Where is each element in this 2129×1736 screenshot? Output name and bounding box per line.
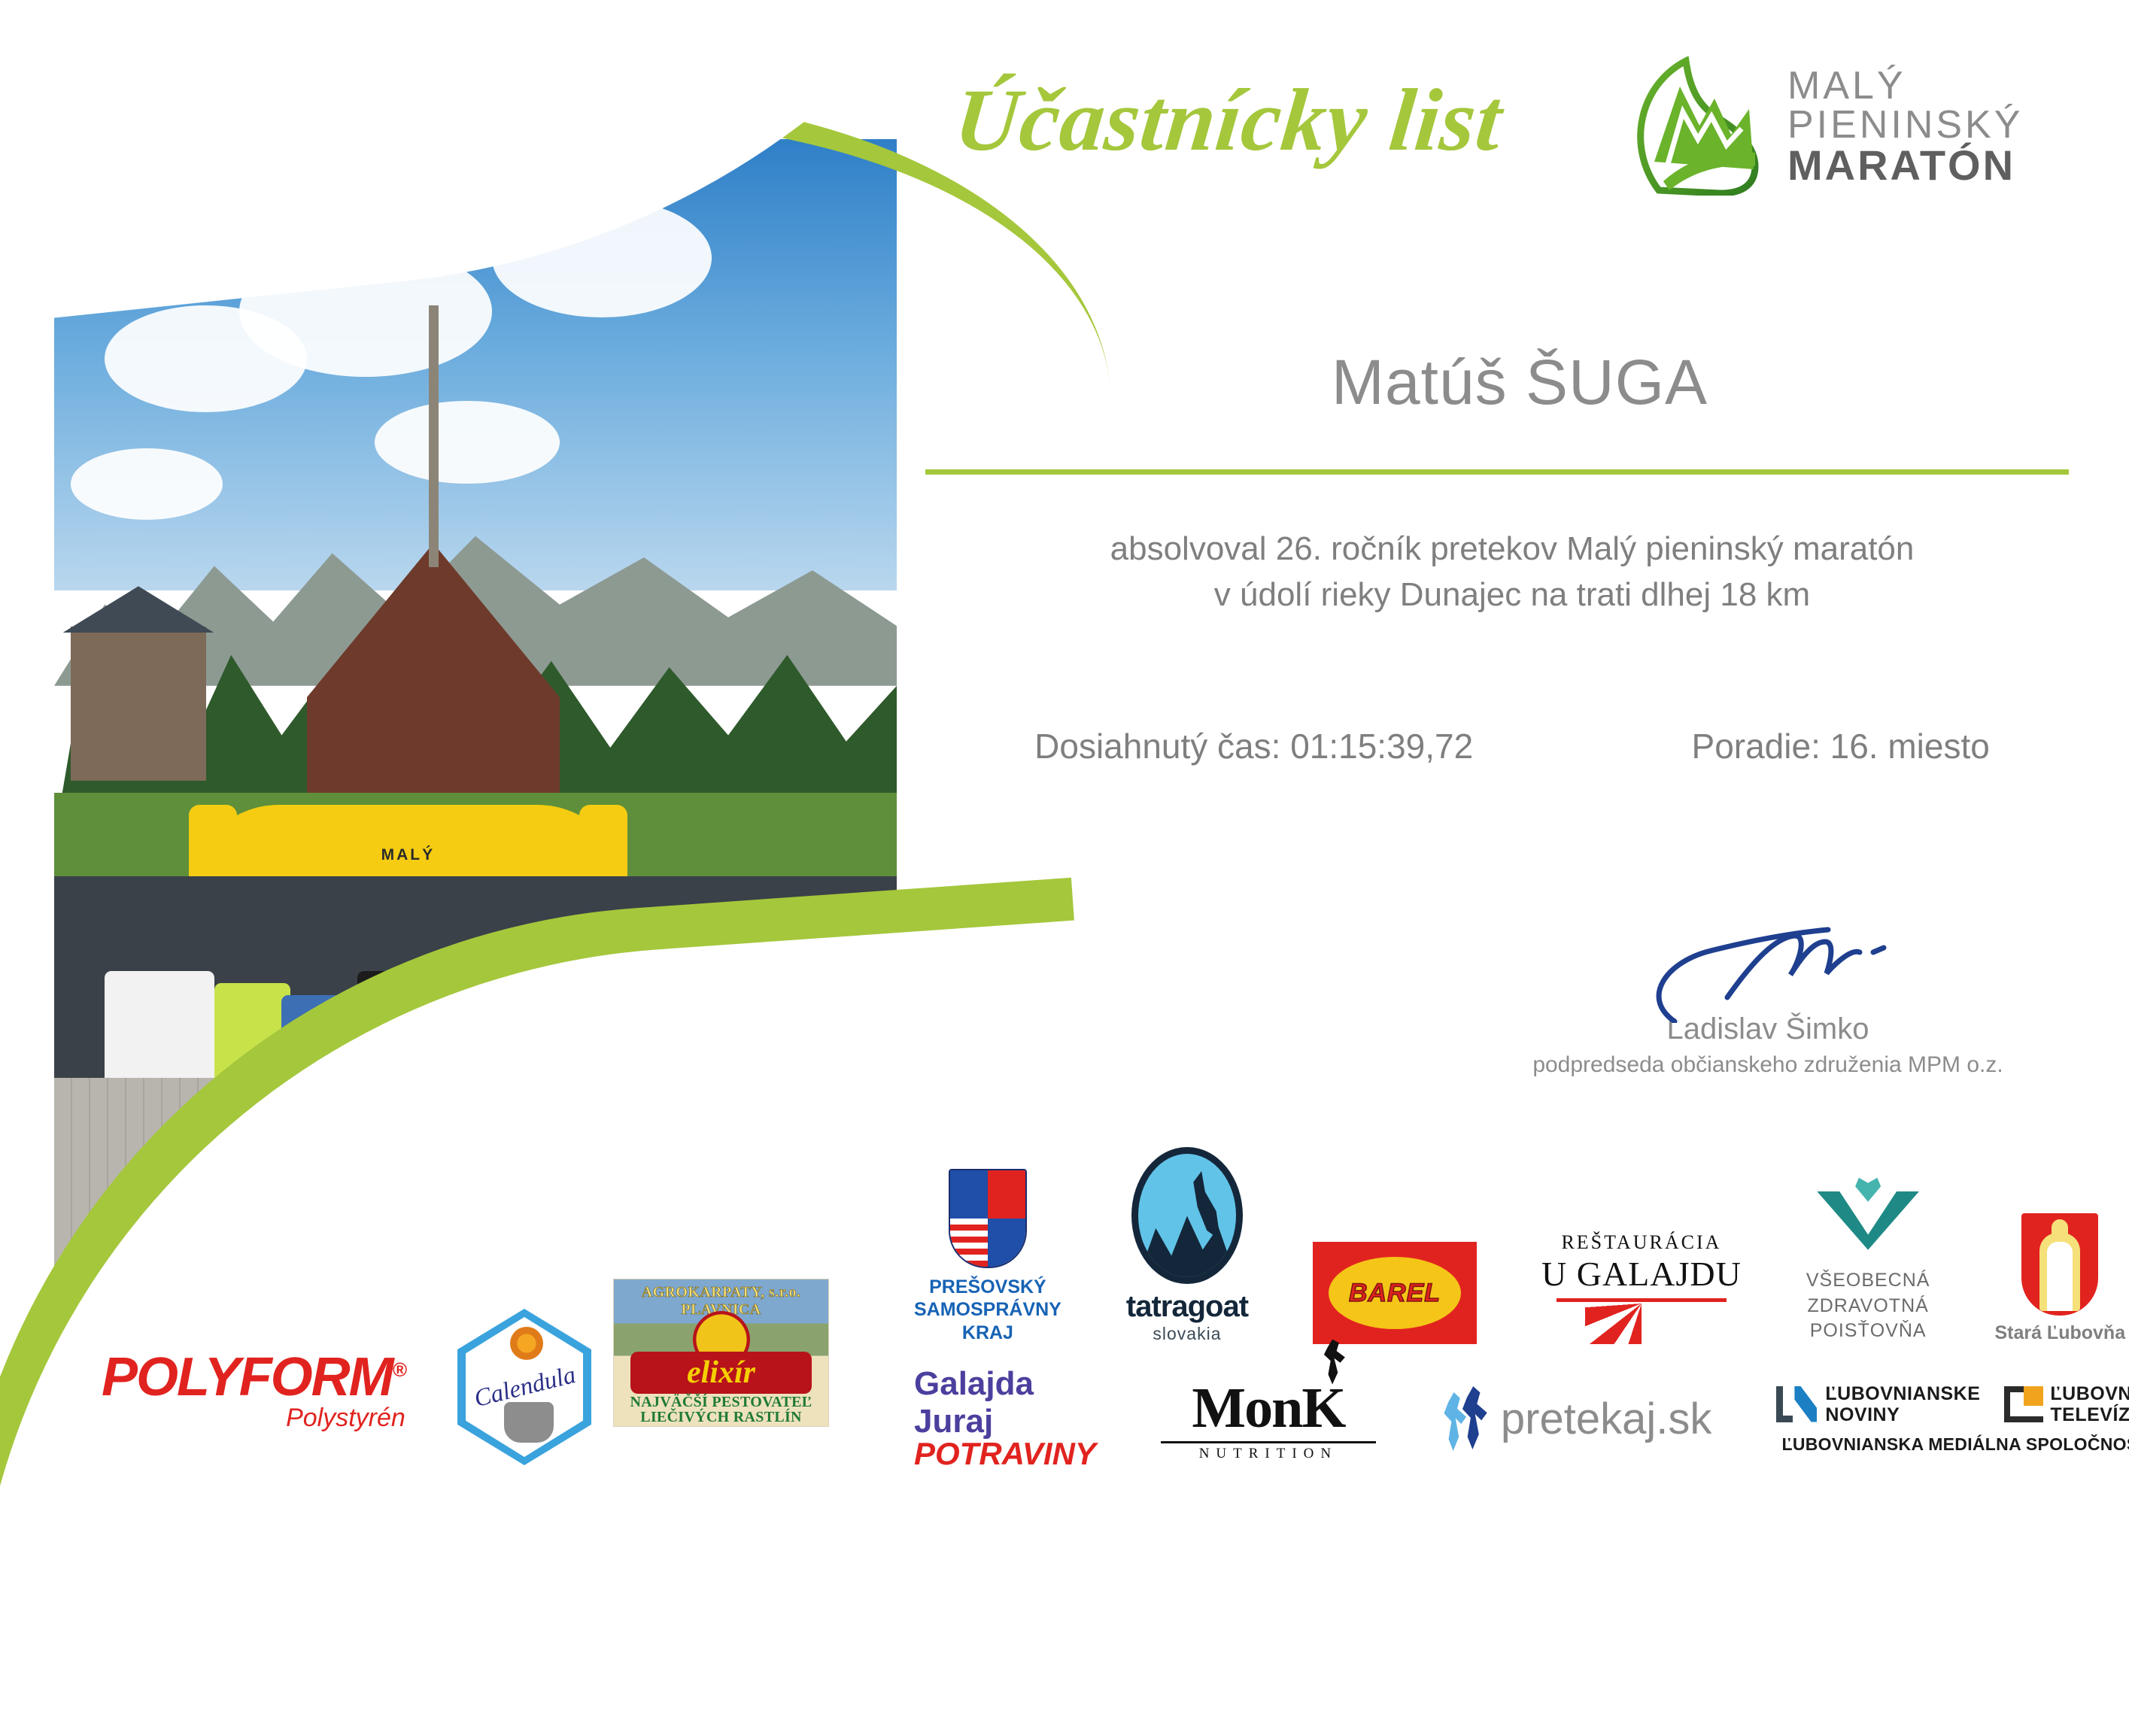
lubovnianska-televizia: ĽUBOVNIANSKA TELEVÍZIA [2004,1383,2129,1425]
results-row: Dosiahnutý čas: 01:15:39,72 Poradie: 16.… [925,726,2099,766]
sponsor-polyform: POLYFORM® Polystyrén [102,1346,405,1433]
lt-monogram-icon [2004,1386,2043,1422]
certificate-description: absolvoval 26. ročník pretekov Malý pien… [925,527,2099,618]
mpm-line2: PIENINSKÝ [1787,105,2023,144]
sponsor-row-secondary: Galajda Juraj POTRAVINY MonK NUTRITION p… [914,1365,2129,1472]
u-galajdu-top: REŠTAURÁCIA [1561,1231,1721,1254]
pretekaj-label: pretekaj.sk [1501,1394,1711,1444]
polyform-name: POLYFORM® [102,1346,405,1408]
mpm-logo: MALÝ PIENINSKÝ MARATÓN [1636,56,2023,196]
sponsor-barel: BAREL [1313,1242,1477,1344]
mpm-line3: MARATÓN [1787,144,2023,187]
arch-line1: MALÝ [189,846,627,864]
elixir-label: elixír [687,1355,755,1391]
runners-icon [1441,1386,1493,1451]
green-divider [925,469,2069,475]
monk-name: MonK [1192,1376,1344,1441]
description-line-2: v údolí rieky Dunajec na trati dlhej 18 … [925,572,2099,618]
elixir-ribbon: elixír [630,1352,812,1394]
u-galajdu-name: U GALAJDU [1541,1254,1742,1294]
finish-time: Dosiahnutý čas: 01:15:39,72 [1034,726,1473,766]
lt-label: ĽUBOVNIANSKA TELEVÍZIA [2050,1383,2129,1425]
monk-sub: NUTRITION [1199,1446,1338,1462]
calendula-flower-icon [510,1327,543,1360]
page-title: Účastnícky list [950,69,1508,171]
sponsor-lubovnianska-medialna: ĽUBOVNIANSKE NOVINY ĽUBOVNIANSKA TELEVÍZ… [1776,1383,2129,1455]
sponsor-row-primary: PREŠOVSKÝ SAMOSPRÁVNY KRAJ tatragoat slo… [914,1147,2125,1344]
ln-monogram-icon [1776,1386,1818,1422]
sponsor-stara-lubovna: Stará Ľubovňa [1994,1213,2125,1344]
barel-label: BAREL [1349,1279,1441,1308]
ln-label: ĽUBOVNIANSKE NOVINY [1825,1383,1980,1425]
mpm-leaf-mountain-icon [1636,56,1768,196]
galajda-name: Galajda Juraj [914,1365,1096,1440]
handwritten-signature-icon [1527,925,2009,1023]
signatory-role: podpredseda občianskeho združenia MPM o.… [1527,1052,2009,1078]
sponsor-tatragoat: tatragoat slovakia [1126,1147,1248,1344]
sponsor-monk-nutrition: MonK NUTRITION [1161,1376,1376,1462]
folk-ornament-icon [1585,1304,1698,1344]
participant-name: Matúš ŠUGA [955,346,2084,419]
tatragoat-badge-icon [1131,1147,1243,1284]
stara-lubovna-shield-icon [2021,1213,2098,1316]
vszp-heart-v-icon [1817,1178,1919,1261]
sponsor-vszp: VŠEOBECNÁ ZDRAVOTNÁ POISŤOVŇA [1806,1178,1930,1344]
stara-lubovna-label: Stará Ľubovňa [1994,1322,2125,1344]
presovsky-kraj-shield-icon [949,1169,1027,1268]
tatragoat-sub: slovakia [1153,1324,1221,1344]
mpm-line1: MALÝ [1787,66,2023,105]
lubovnianske-noviny: ĽUBOVNIANSKE NOVINY [1776,1383,1980,1425]
sponsor-pretekaj-sk: pretekaj.sk [1441,1386,1711,1451]
sponsor-galajda-juraj: Galajda Juraj POTRAVINY [914,1365,1096,1472]
sponsor-presovsky-kraj: PREŠOVSKÝ SAMOSPRÁVNY KRAJ [914,1169,1061,1345]
mortar-pestle-icon [504,1402,554,1443]
presovsky-kraj-label: PREŠOVSKÝ SAMOSPRÁVNY KRAJ [914,1276,1061,1345]
vszp-label: VŠEOBECNÁ ZDRAVOTNÁ POISŤOVŇA [1806,1268,1930,1344]
sponsor-agrokarpaty-elixir: AGROKARPATY, s.r.o. PLAVNICA elixír NAJV… [613,1279,829,1427]
tatragoat-name: tatragoat [1126,1290,1248,1324]
elixir-sub2: LIEČIVÝCH RASTLÍN [614,1409,828,1426]
sponsor-calendula: Calendula [457,1309,591,1465]
monk-rule [1161,1441,1376,1443]
lubovnianska-medialna-footer: ĽUBOVNIANSKA MEDIÁLNA SPOLOČNOSŤ, s.r.o. [1781,1434,2129,1455]
barel-logo-icon: BAREL [1313,1242,1477,1344]
placement: Poradie: 16. miesto [1692,726,1990,766]
sponsor-u-galajdu: REŠTAURÁCIA U GALAJDU [1541,1231,1742,1344]
signature-block: Ladislav Šimko podpredseda občianskeho z… [1527,925,2009,1078]
description-line-1: absolvoval 26. ročník pretekov Malý pien… [925,527,2099,572]
galajda-sub: POTRAVINY [914,1436,1096,1472]
u-galajdu-rule [1557,1298,1727,1302]
mpm-wordmark: MALÝ PIENINSKÝ MARATÓN [1787,66,2023,187]
